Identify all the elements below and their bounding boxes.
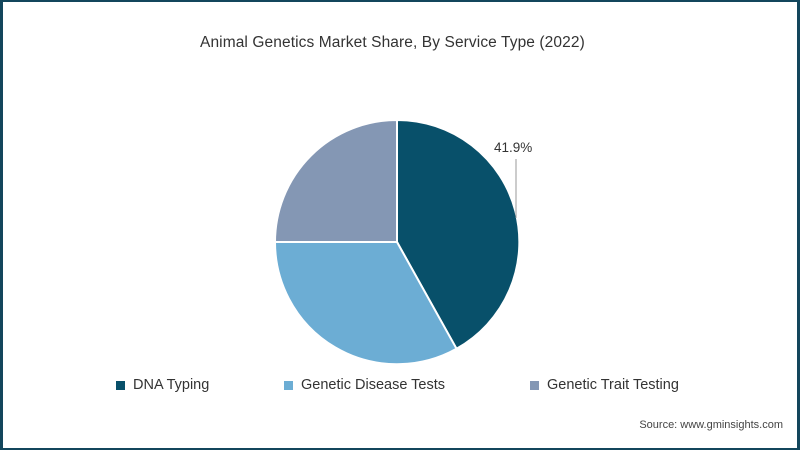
chart-frame: Animal Genetics Market Share, By Service… xyxy=(0,0,800,450)
legend-item-genetic-disease-tests[interactable]: Genetic Disease Tests xyxy=(284,374,445,396)
legend-swatch-icon xyxy=(116,381,125,390)
legend-swatch-icon xyxy=(284,381,293,390)
legend-item-label: Genetic Disease Tests xyxy=(301,377,445,393)
legend-item-label: DNA Typing xyxy=(133,377,209,393)
legend: DNA Typing Genetic Disease Tests Genetic… xyxy=(3,374,800,396)
legend-item-genetic-trait-testing[interactable]: Genetic Trait Testing xyxy=(530,374,679,396)
source-attribution: Source: www.gminsights.com xyxy=(639,419,783,431)
legend-item-dna-typing[interactable]: DNA Typing xyxy=(116,374,209,396)
legend-swatch-icon xyxy=(530,381,539,390)
legend-item-label: Genetic Trait Testing xyxy=(547,377,679,393)
data-label-dna-typing: 41.9% xyxy=(494,140,532,155)
pie-slice-genetic-trait-testing[interactable] xyxy=(275,120,397,242)
